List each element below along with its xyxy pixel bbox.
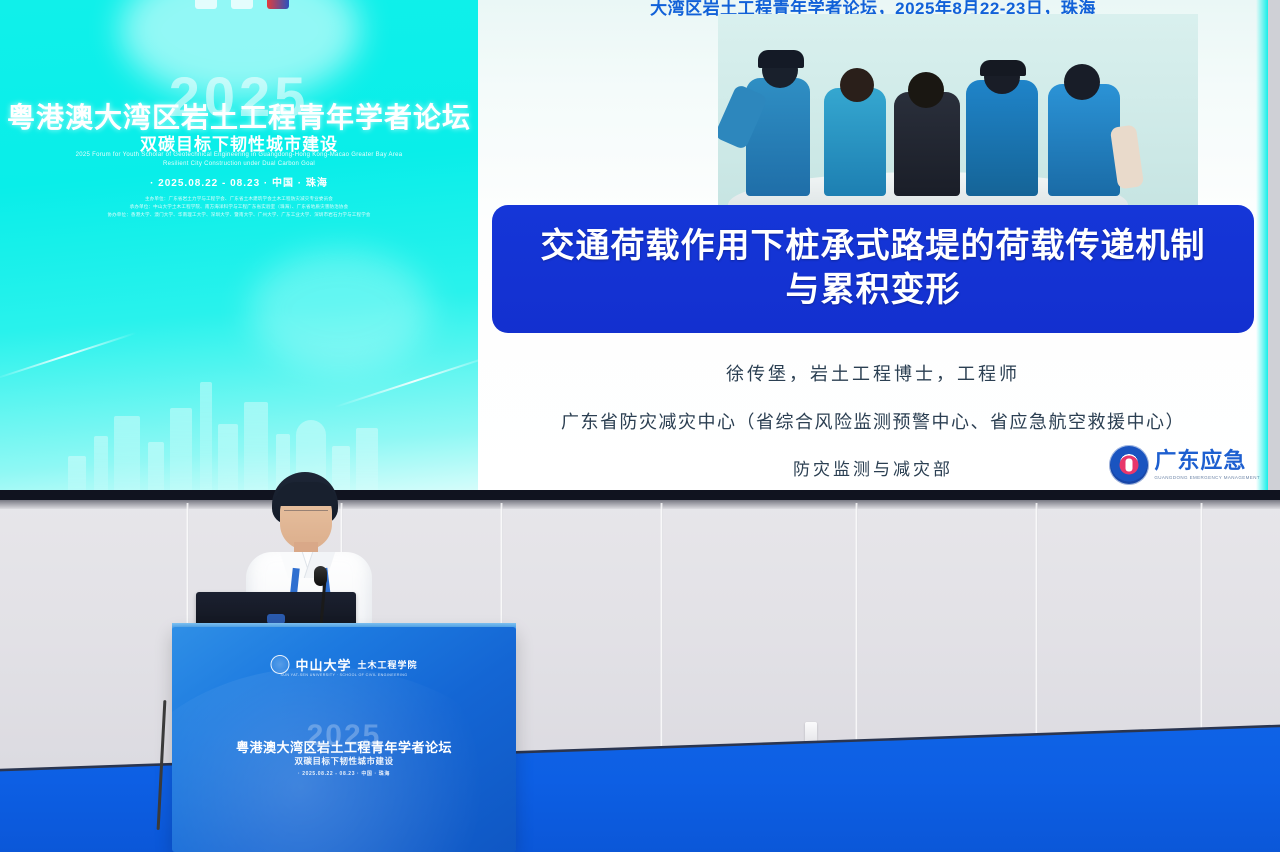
slide-title-line1: 交通荷载作用下桩承式路堤的荷载传递机制: [541, 225, 1206, 269]
emergency-logo-text: 广东应急: [1154, 450, 1260, 472]
podium-forum-date: · 2025.08.22 - 08.23 · 中国 · 珠海: [298, 770, 390, 777]
event-backdrop-banner: 2025 粤港澳大湾区岩土工程青年学者论坛 双碳目标下韧性城市建设 2025 F…: [0, 0, 478, 494]
projection-screen: 2025 粤港澳大湾区岩土工程青年学者论坛 双碳目标下韧性城市建设 2025 F…: [0, 0, 1280, 500]
backdrop-organizers-line2: 承办单位：中山大学土木工程学院、南方海洋科学与工程广东省实验室（珠海）、广东省地…: [130, 204, 349, 210]
backdrop-english-line2: Resilient City Construction under Dual C…: [163, 161, 315, 167]
university-seal-icon: [270, 655, 289, 674]
speaker-byline: 徐传堡，岩土工程博士，工程师: [478, 360, 1268, 386]
podium: 中山大学 土木工程学院 SUN YAT-SEN UNIVERSITY · SCH…: [172, 627, 516, 852]
guangdong-emergency-logo: 广东应急 GUANGDONG EMERGENCY MANAGEMENT: [1109, 445, 1260, 485]
emergency-logo-subtitle: GUANGDONG EMERGENCY MANAGEMENT: [1154, 475, 1260, 480]
slide-title-line2: 与累积变形: [541, 269, 1206, 313]
backdrop-sponsor-logos: [195, 0, 325, 10]
screen-bottom-frame: [0, 490, 1280, 500]
screen-right-rim: [1256, 0, 1268, 494]
university-logo: 中山大学 土木工程学院: [270, 655, 417, 674]
podium-forum-title: 粤港澳大湾区岩土工程青年学者论坛: [236, 737, 452, 756]
backdrop-organizers-line3: 协办单位：香港大学、澳门大学、华南理工大学、深圳大学、暨南大学、广州大学、广东工…: [107, 212, 370, 218]
slide-title-box: 交通荷载作用下桩承式路堤的荷载传递机制 与累积变形: [492, 205, 1254, 333]
microphone-head[interactable]: [314, 566, 327, 586]
speaker-affiliation: 广东省防灾减灾中心（省综合风险监测预警中心、省应急航空救援中心）: [478, 408, 1268, 434]
presentation-slide: 大湾区岩土工程青年学者论坛，2025年8月22-23日，珠海: [478, 0, 1268, 494]
emergency-badge-icon: [1109, 445, 1149, 485]
slide-title: 交通荷载作用下桩承式路堤的荷载传递机制 与累积变形: [525, 225, 1222, 312]
university-name-cn: 中山大学: [295, 655, 351, 674]
backdrop-organizers-line1: 主办单位：广东省岩土力学与工程学会、广东省土木建筑学会土木工程防灾减灾专业委员会: [145, 196, 333, 202]
speaker-glasses: [284, 510, 328, 522]
rescue-boat-photo: [718, 14, 1198, 214]
presentation-photo: 2025 粤港澳大湾区岩土工程青年学者论坛 双碳目标下韧性城市建设 2025 F…: [0, 0, 1280, 852]
speaker-fringe: [276, 482, 336, 506]
podium-forum-subtitle: 双碳目标下韧性城市建设: [294, 755, 393, 767]
backdrop-english-line1: 2025 Forum for Youth Scholar of Geotechn…: [76, 152, 403, 158]
school-name-cn: 土木工程学院: [358, 658, 418, 671]
university-name-en: SUN YAT-SEN UNIVERSITY · SCHOOL OF CIVIL…: [281, 673, 408, 677]
backdrop-date: · 2025.08.22 - 08.23 · 中国 · 珠海: [150, 174, 328, 189]
